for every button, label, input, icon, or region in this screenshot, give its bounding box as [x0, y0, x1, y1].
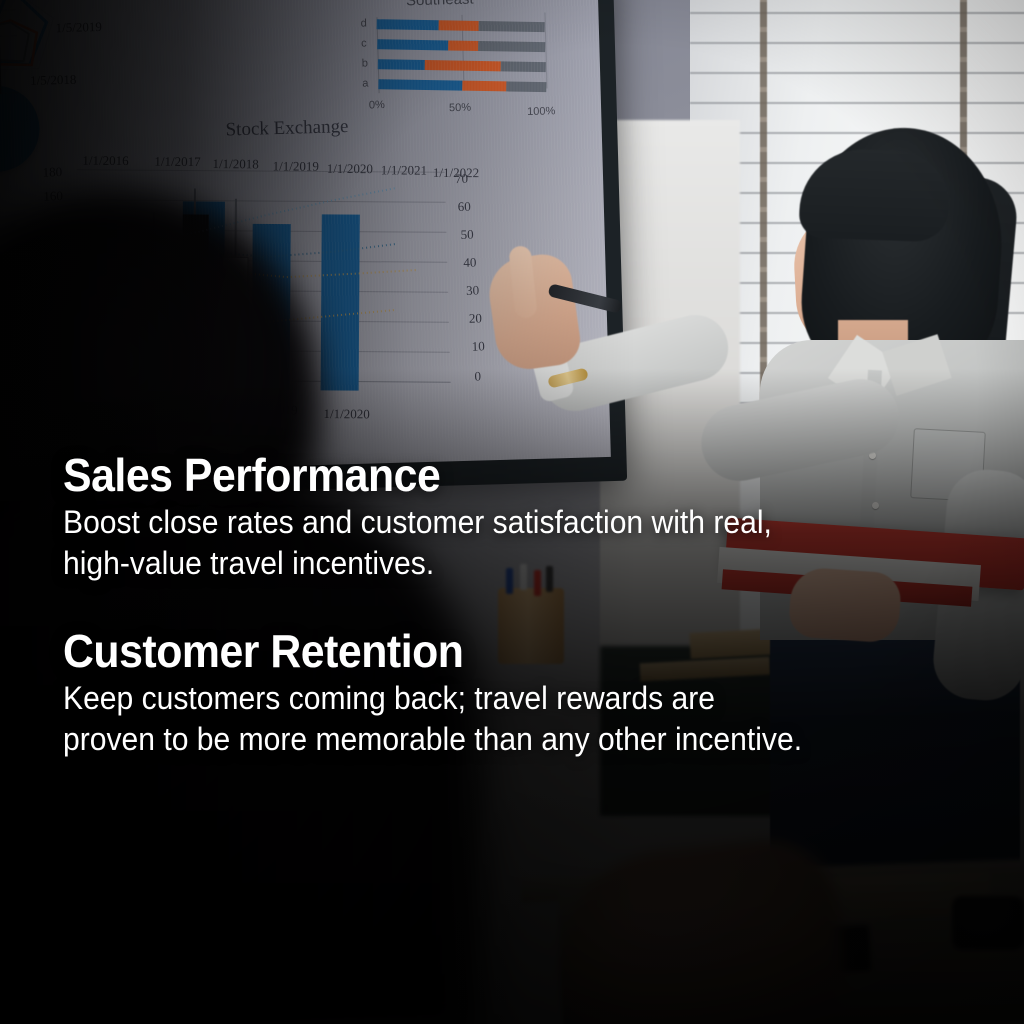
overlay-copy: Sales Performance Boost close rates and …: [63, 452, 903, 766]
copy-block-customer-retention: Customer Retention Keep customers coming…: [63, 628, 903, 760]
body-sales-performance: Boost close rates and customer satisfact…: [63, 502, 806, 584]
copy-block-sales-performance: Sales Performance Boost close rates and …: [63, 452, 903, 584]
heading-customer-retention: Customer Retention: [63, 628, 844, 675]
heading-sales-performance: Sales Performance: [63, 452, 844, 499]
body-customer-retention: Keep customers coming back; travel rewar…: [63, 678, 806, 760]
dark-cup: [952, 896, 1024, 950]
promo-image-canvas: 2020 1/5/2020 1/5/2019 1/5/2018 1/5/2017…: [0, 0, 1024, 1024]
